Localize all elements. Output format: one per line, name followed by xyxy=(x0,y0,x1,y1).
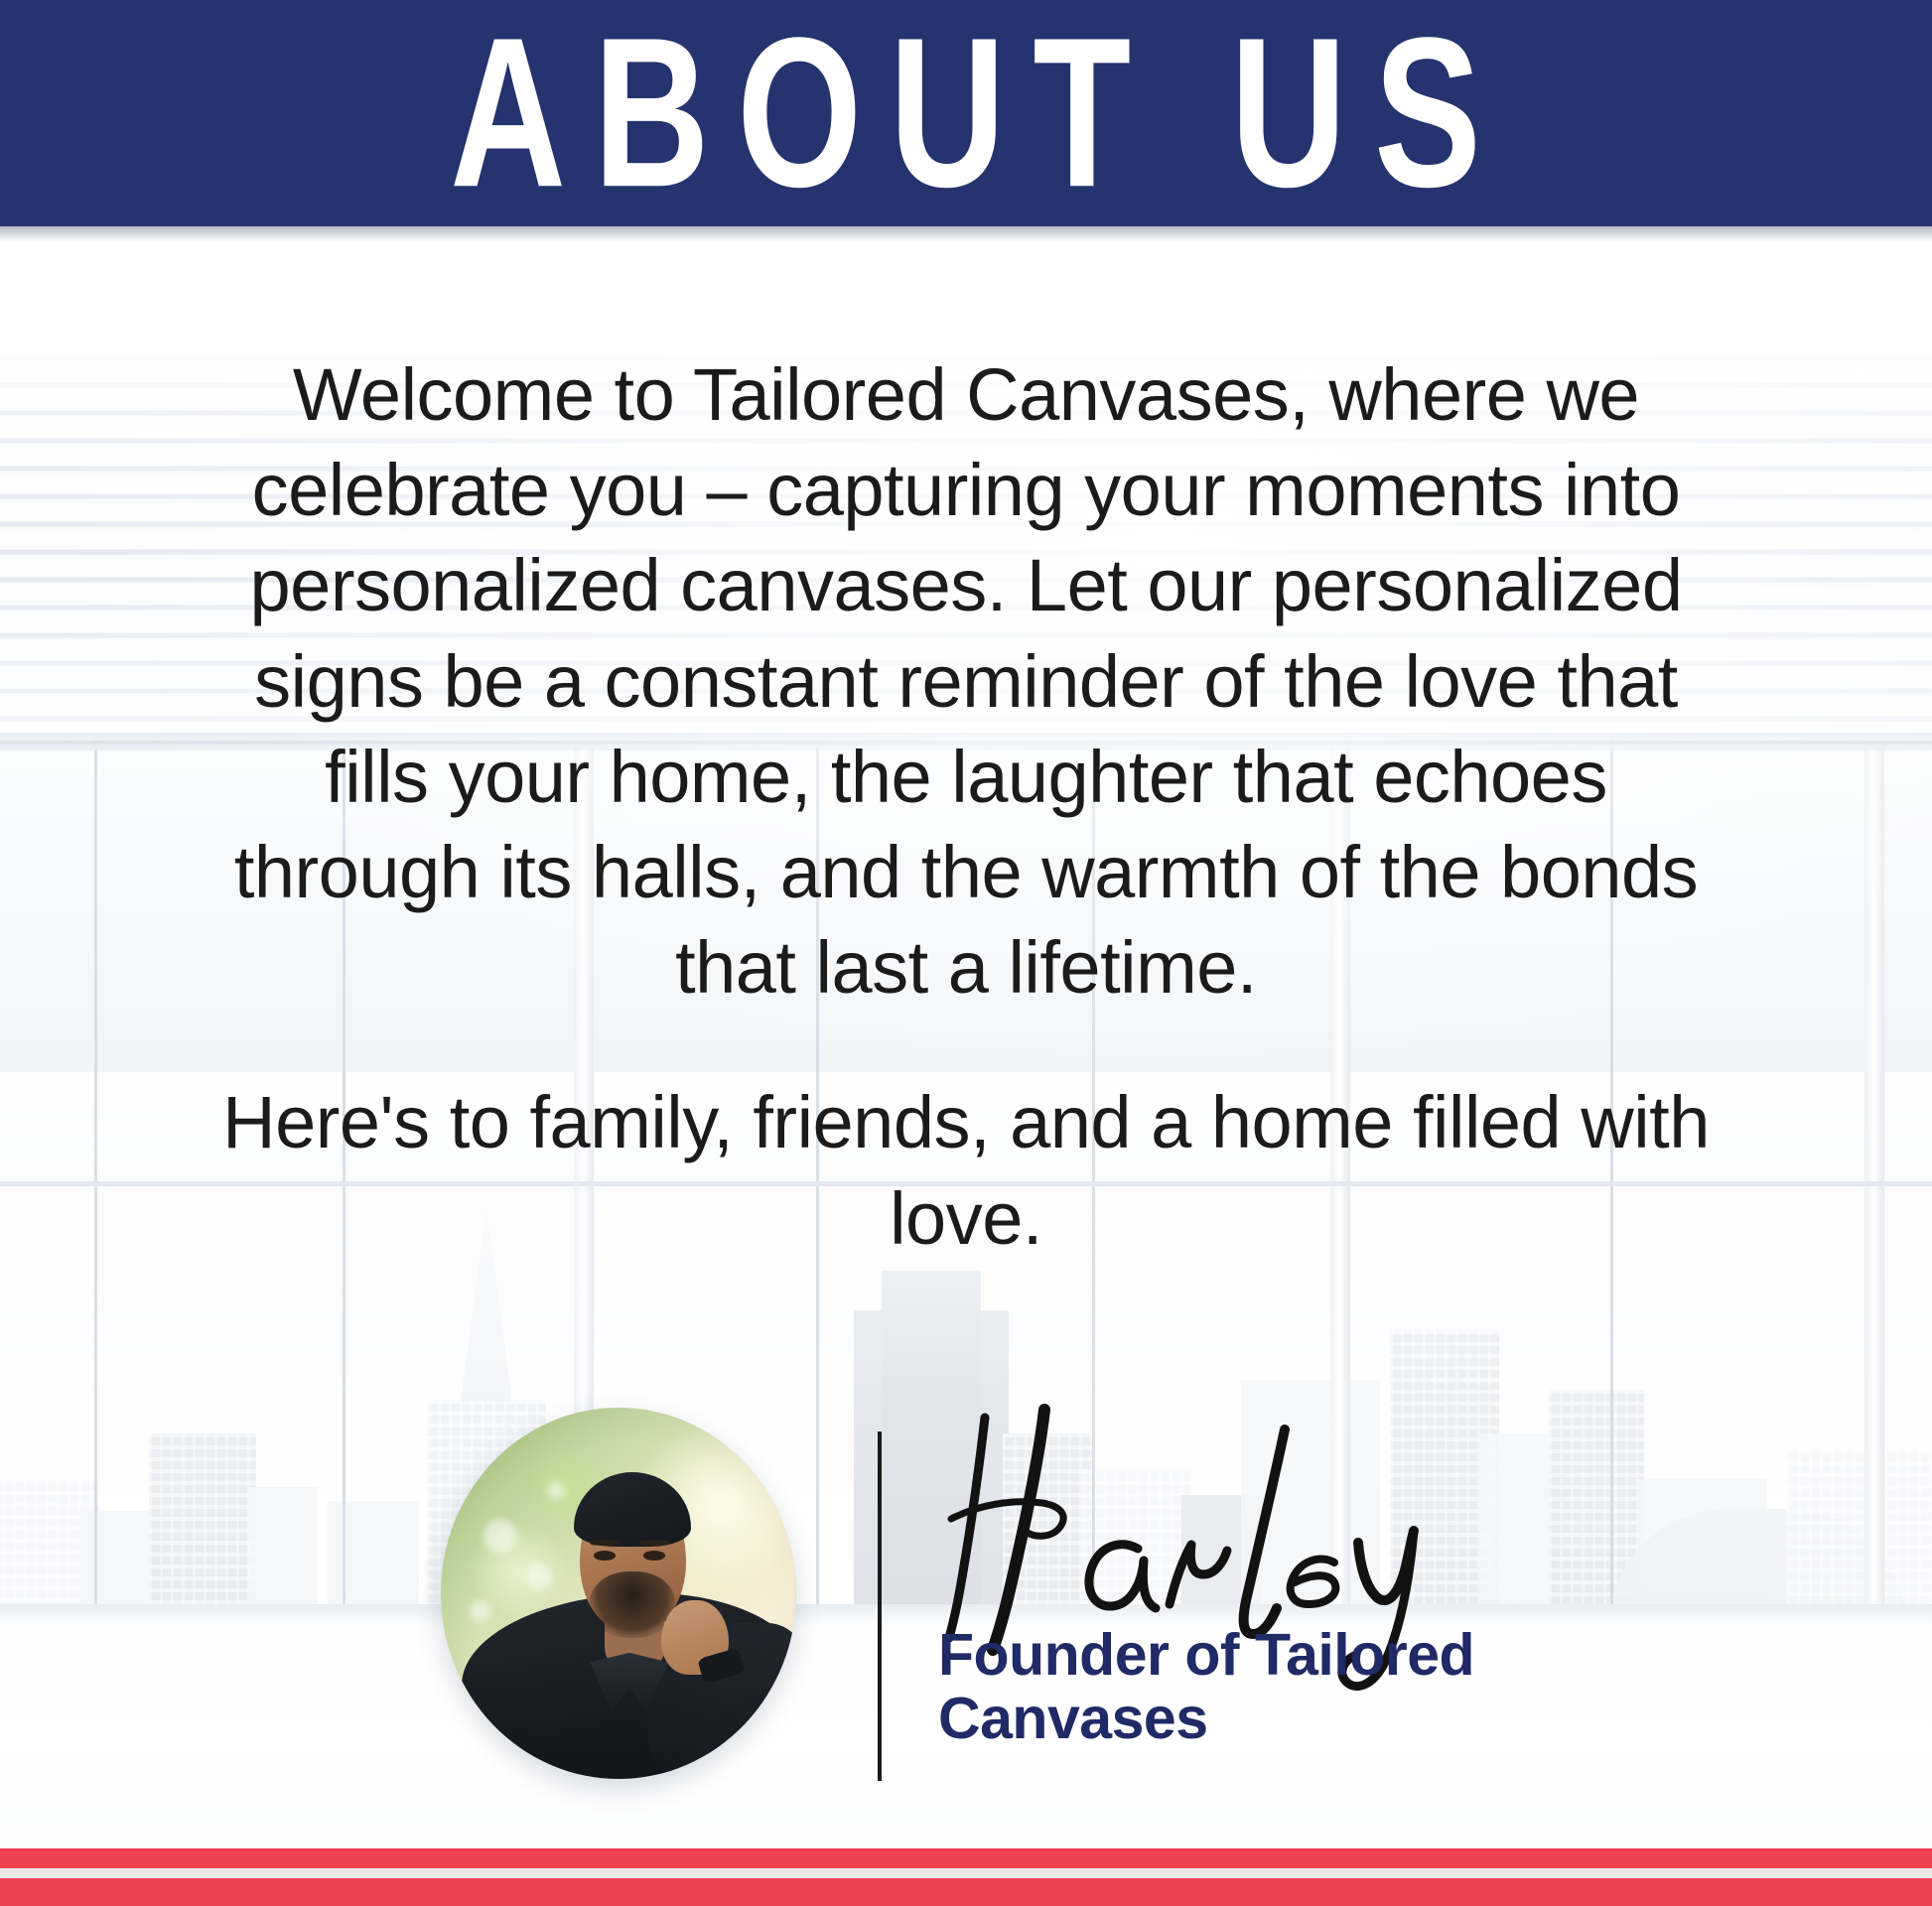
avatar-vignette xyxy=(441,1408,796,1779)
signature-divider xyxy=(878,1431,882,1781)
founder-role: Founder of Tailored Canvases xyxy=(938,1624,1693,1750)
founder-avatar xyxy=(441,1408,796,1779)
paragraph-1: Welcome to Tailored Canvases, where we c… xyxy=(211,347,1721,1016)
paragraph-spacer xyxy=(211,1016,1721,1075)
page-title: ABOUT US xyxy=(423,7,1509,220)
about-us-body: Welcome to Tailored Canvases, where we c… xyxy=(211,347,1721,1267)
paragraph-2: Here's to family, friends, and a home fi… xyxy=(211,1075,1721,1266)
footer-stripe-gap xyxy=(0,1868,1932,1878)
about-us-poster: ABOUT US Welcome to Tailored Canvases, w… xyxy=(0,0,1932,1906)
header-bar: ABOUT US xyxy=(0,0,1932,226)
founder-role-line-2: Canvases xyxy=(938,1688,1693,1751)
header-drop-shadow xyxy=(0,226,1932,242)
footer-stripe-top xyxy=(0,1848,1932,1868)
founder-role-line-1: Founder of Tailored xyxy=(938,1624,1693,1688)
footer-stripe-bottom xyxy=(0,1878,1932,1906)
